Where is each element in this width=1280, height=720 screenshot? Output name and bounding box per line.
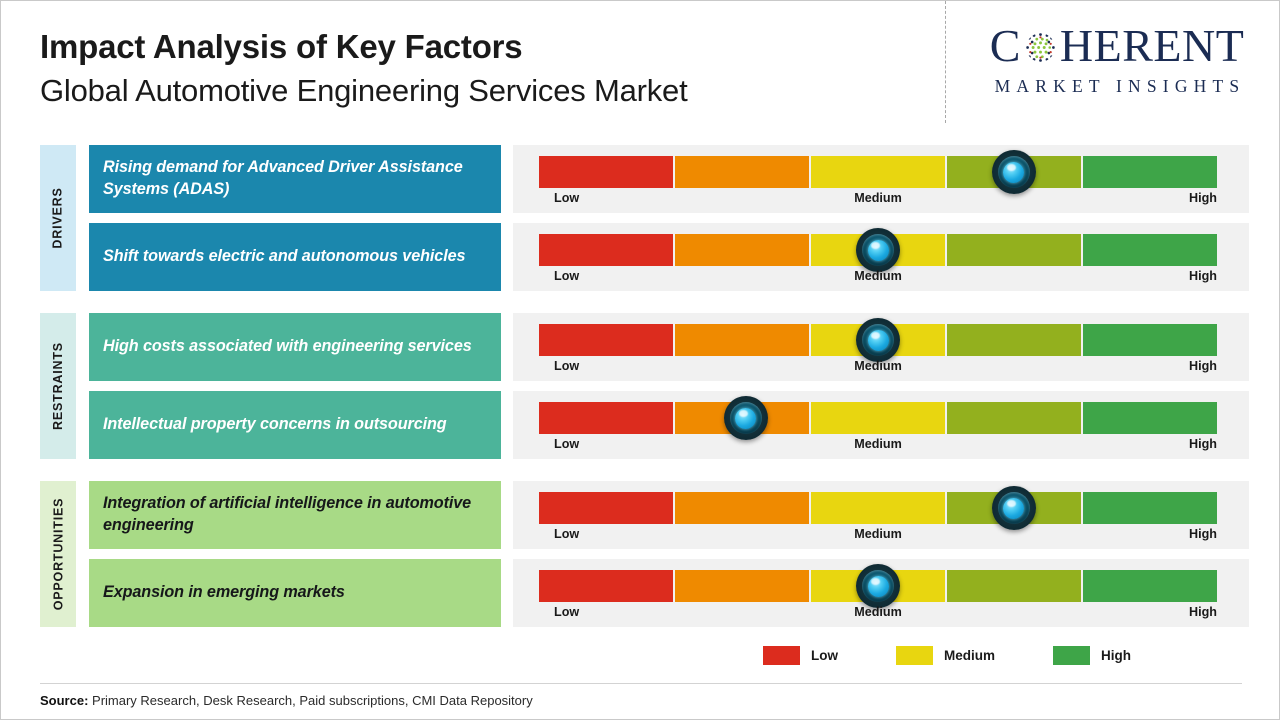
factor-label: Rising demand for Advanced Driver Assist…: [103, 157, 487, 200]
marker-core: [868, 330, 889, 351]
scale-label-high: High: [1189, 191, 1217, 205]
gauge-segment-1: [539, 570, 673, 602]
scale-label-medium: Medium: [854, 269, 902, 283]
gauge-segment-1: [539, 492, 673, 524]
source-note: Source: Primary Research, Desk Research,…: [40, 693, 533, 708]
marker-ring: [862, 234, 894, 266]
factor-label: Expansion in emerging markets: [103, 582, 345, 604]
impact-marker[interactable]: [992, 150, 1036, 194]
impact-marker[interactable]: [856, 318, 900, 362]
gauge-bar: [539, 156, 1217, 188]
gauge-segment-5: [1083, 156, 1217, 188]
gauge-segment-3: [811, 492, 945, 524]
marker-core: [1003, 498, 1024, 519]
category-label-restraints: RESTRAINTS: [40, 313, 76, 459]
marker-ring: [998, 156, 1030, 188]
legend-swatch-medium: [896, 646, 933, 665]
scale-label-high: High: [1189, 605, 1217, 619]
gauge-segment-5: [1083, 492, 1217, 524]
gauge-segment-3: [811, 402, 945, 434]
marker-core: [868, 240, 889, 261]
gauge-scale: LowMediumHigh: [539, 269, 1217, 291]
gauge-segment-5: [1083, 234, 1217, 266]
impact-gauge: LowMediumHigh: [513, 391, 1249, 459]
marker-ring: [998, 492, 1030, 524]
gauge-scale: LowMediumHigh: [539, 527, 1217, 549]
impact-gauge: LowMediumHigh: [513, 559, 1249, 627]
gauge-segment-4: [947, 324, 1081, 356]
gauge-segment-5: [1083, 402, 1217, 434]
scale-label-high: High: [1189, 527, 1217, 541]
header: Impact Analysis of Key Factors Global Au…: [40, 29, 920, 110]
gauge-segment-1: [539, 402, 673, 434]
impact-gauge: LowMediumHigh: [513, 481, 1249, 549]
marker-core: [735, 408, 756, 429]
legend-item: High: [1053, 646, 1131, 665]
scale-label-low: Low: [554, 269, 579, 283]
source-text: Primary Research, Desk Research, Paid su…: [88, 693, 532, 708]
factor-panel: Expansion in emerging markets: [89, 559, 501, 627]
legend-swatch-low: [763, 646, 800, 665]
gauge-bar: [539, 492, 1217, 524]
scale-label-low: Low: [554, 359, 579, 373]
gauge-segment-1: [539, 324, 673, 356]
factor-panel: High costs associated with engineering s…: [89, 313, 501, 381]
source-label: Source:: [40, 693, 88, 708]
category-label-text: DRIVERS: [51, 187, 65, 248]
logo-word-herent: HERENT: [1060, 23, 1244, 69]
impact-gauge: LowMediumHigh: [513, 313, 1249, 381]
impact-marker[interactable]: [856, 564, 900, 608]
impact-gauge: LowMediumHigh: [513, 145, 1249, 213]
logo-wordmark: C: [967, 23, 1267, 69]
marker-ring: [862, 324, 894, 356]
factor-label: Shift towards electric and autonomous ve…: [103, 246, 465, 268]
factor-label: Intellectual property concerns in outsou…: [103, 414, 447, 436]
factor-panel: Shift towards electric and autonomous ve…: [89, 223, 501, 291]
gauge-scale: LowMediumHigh: [539, 191, 1217, 213]
gauge-segment-2: [675, 156, 809, 188]
scale-label-low: Low: [554, 605, 579, 619]
legend-label: Low: [811, 648, 838, 663]
factor-panel: Rising demand for Advanced Driver Assist…: [89, 145, 501, 213]
scale-label-high: High: [1189, 359, 1217, 373]
gauge-segment-3: [811, 156, 945, 188]
gauge-scale: LowMediumHigh: [539, 437, 1217, 459]
globe-sphere-icon: [1022, 28, 1059, 65]
scale-label-high: High: [1189, 269, 1217, 283]
category-label-opportunities: OPPORTUNITIES: [40, 481, 76, 627]
scale-label-low: Low: [554, 191, 579, 205]
scale-label-medium: Medium: [854, 437, 902, 451]
logo-tagline: MARKET INSIGHTS: [967, 76, 1267, 97]
scale-label-medium: Medium: [854, 191, 902, 205]
gauge-segment-1: [539, 156, 673, 188]
category-label-drivers: DRIVERS: [40, 145, 76, 291]
gauge-scale: LowMediumHigh: [539, 605, 1217, 627]
logo-letter-c: C: [990, 23, 1021, 69]
gauge-segment-2: [675, 492, 809, 524]
page-subtitle: Global Automotive Engineering Services M…: [40, 73, 920, 110]
impact-marker[interactable]: [724, 396, 768, 440]
legend: LowMediumHigh: [763, 646, 1131, 665]
legend-item: Medium: [896, 646, 995, 665]
scale-label-medium: Medium: [854, 527, 902, 541]
gauge-segment-2: [675, 324, 809, 356]
marker-ring: [730, 402, 762, 434]
footer-divider: [40, 683, 1242, 684]
marker-ring: [862, 570, 894, 602]
page-title: Impact Analysis of Key Factors: [40, 29, 920, 66]
legend-label: Medium: [944, 648, 995, 663]
logo-divider: [945, 1, 946, 123]
marker-core: [1003, 162, 1024, 183]
gauge-scale: LowMediumHigh: [539, 359, 1217, 381]
scale-label-medium: Medium: [854, 359, 902, 373]
impact-gauge: LowMediumHigh: [513, 223, 1249, 291]
gauge-segment-4: [947, 570, 1081, 602]
gauge-segment-5: [1083, 324, 1217, 356]
scale-label-medium: Medium: [854, 605, 902, 619]
category-label-text: RESTRAINTS: [51, 342, 65, 430]
legend-swatch-high: [1053, 646, 1090, 665]
factor-label: High costs associated with engineering s…: [103, 336, 472, 358]
factor-panel: Intellectual property concerns in outsou…: [89, 391, 501, 459]
scale-label-high: High: [1189, 437, 1217, 451]
brand-logo: C: [967, 23, 1267, 97]
scale-label-low: Low: [554, 527, 579, 541]
gauge-segment-5: [1083, 570, 1217, 602]
impact-marker[interactable]: [992, 486, 1036, 530]
legend-item: Low: [763, 646, 838, 665]
gauge-segment-2: [675, 234, 809, 266]
factor-label: Integration of artificial intelligence i…: [103, 493, 487, 536]
infographic-canvas: Impact Analysis of Key Factors Global Au…: [0, 0, 1280, 720]
gauge-segment-4: [947, 402, 1081, 434]
impact-marker[interactable]: [856, 228, 900, 272]
factor-panel: Integration of artificial intelligence i…: [89, 481, 501, 549]
marker-core: [868, 576, 889, 597]
category-label-text: OPPORTUNITIES: [51, 498, 65, 611]
gauge-segment-4: [947, 234, 1081, 266]
legend-label: High: [1101, 648, 1131, 663]
gauge-bar: [539, 402, 1217, 434]
scale-label-low: Low: [554, 437, 579, 451]
gauge-segment-1: [539, 234, 673, 266]
gauge-segment-2: [675, 570, 809, 602]
